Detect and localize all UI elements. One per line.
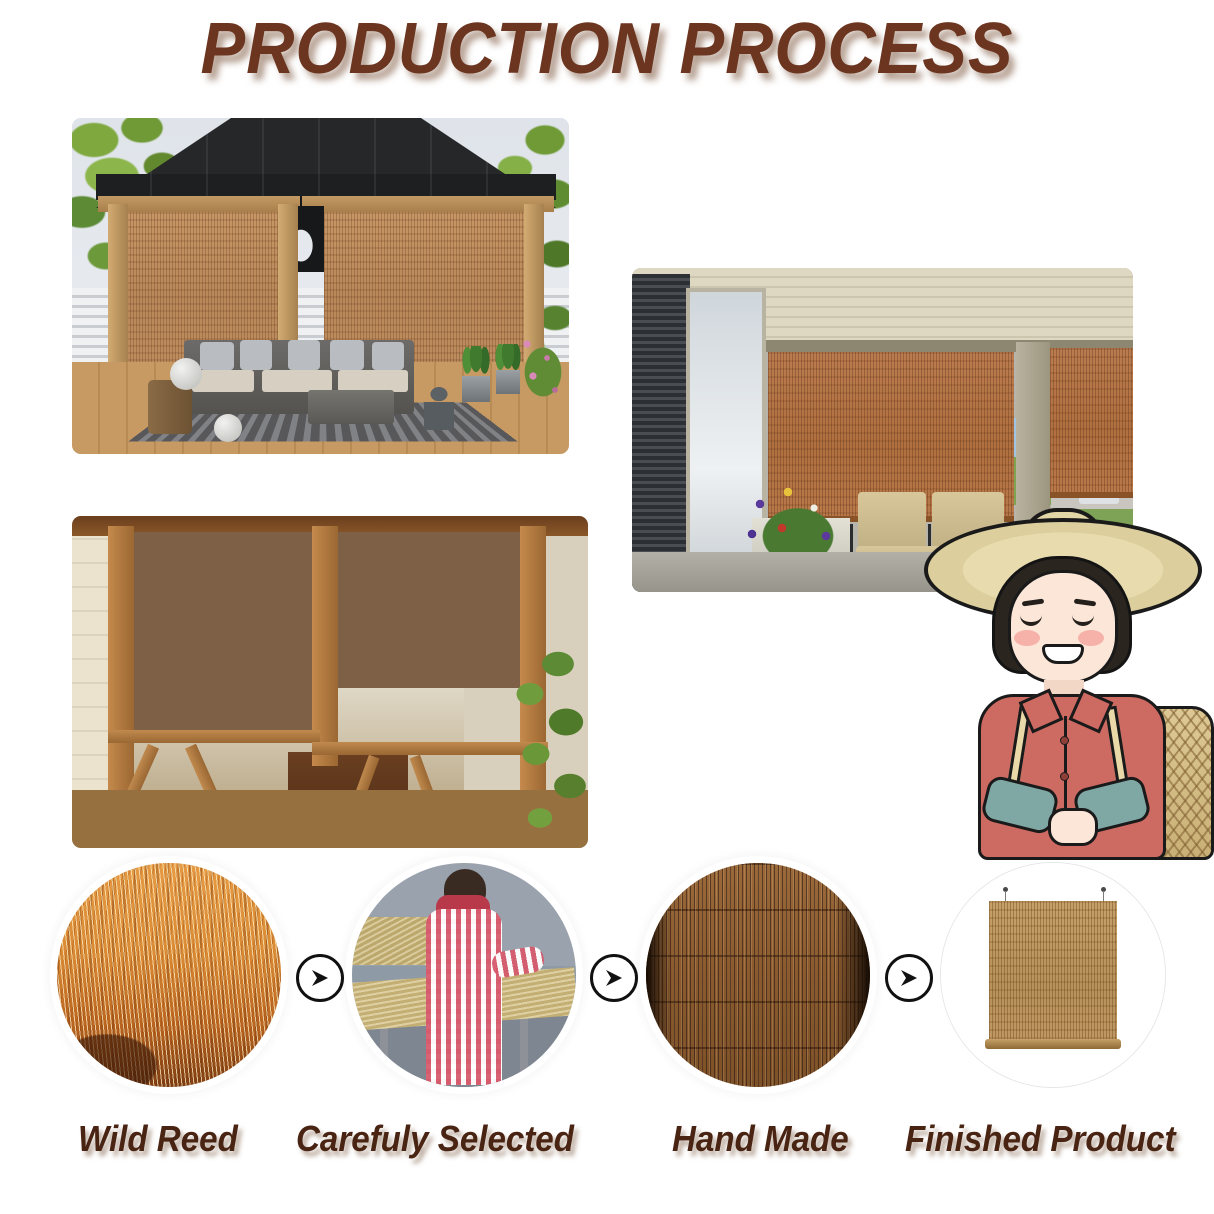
deck-reed-shade-right [320, 532, 520, 688]
sofa-pillow-1 [200, 342, 234, 370]
wild-reed-shadow [57, 1001, 197, 1087]
sofa-pillow-5 [372, 342, 404, 370]
chevron-right-icon [309, 968, 331, 988]
deck-foliage [496, 646, 588, 848]
decor-sphere-1 [170, 358, 202, 390]
gazebo-coffee-table [308, 390, 394, 424]
woven-reed-mat-edge-right [836, 863, 870, 1087]
chevron-right-icon [603, 968, 625, 988]
deck-reed-shade-left [134, 532, 320, 732]
process-image-wild-reed [57, 863, 281, 1087]
photo-wooden-deck-with-reed-shades [72, 516, 588, 848]
potted-plant-1 [458, 346, 494, 380]
gazebo-flowering-shrub [513, 328, 569, 408]
sofa-pillow-2 [240, 340, 272, 370]
gazebo-header-beam [98, 196, 554, 212]
page-title: PRODUCTION PROCESS [42, 8, 1171, 90]
woven-reed-mat-edge-left [646, 863, 672, 1087]
sofa-seat-cushion-2 [262, 370, 332, 392]
process-arrow-3 [885, 954, 933, 1002]
process-label-wild-reed: Wild Reed [78, 1118, 238, 1160]
farmer-smile [1042, 644, 1084, 664]
porch-shutter [632, 274, 690, 592]
farmer-face [1008, 570, 1118, 684]
farmer-cheek-right [1078, 630, 1104, 646]
farmer-shirt-button-2 [1060, 772, 1069, 781]
chevron-right-icon [898, 968, 920, 988]
farmer-hands [1048, 808, 1098, 846]
buddha-statue [424, 384, 454, 430]
process-label-hand-made: Hand Made [672, 1118, 849, 1160]
worker-checkered-jacket [426, 909, 502, 1085]
farmer-shirt-button-1 [1060, 736, 1069, 745]
infographic-canvas: PRODUCTION PROCESS [0, 0, 1214, 1214]
sofa-pillow-4 [330, 340, 364, 370]
illustration-cartoon-farmer-woman [916, 508, 1214, 860]
process-image-finished-reed-shade [941, 863, 1165, 1087]
sofa-seat-cushion-3 [338, 370, 408, 392]
process-label-carefuly-selected: Carefuly Selected [296, 1118, 574, 1160]
process-image-woven-reed-mat [646, 863, 870, 1087]
decor-sphere-2 [214, 414, 242, 442]
finished-shade-bottom-bar [985, 1039, 1121, 1049]
process-image-worker-selecting-reeds [352, 863, 576, 1087]
process-arrow-2 [590, 954, 638, 1002]
porch-reed-shade-secondary-rail [1050, 492, 1133, 498]
porch-reed-shade-secondary [1050, 348, 1133, 496]
farmer-cheek-left [1014, 630, 1040, 646]
photo-gazebo-with-reed-shades [72, 118, 569, 454]
finished-reed-roller-shade [989, 901, 1117, 1043]
sofa-pillow-3 [288, 340, 320, 370]
process-label-finished-product: Finished Product [905, 1118, 1175, 1160]
process-arrow-1 [296, 954, 344, 1002]
deck-railing-left [108, 730, 320, 743]
